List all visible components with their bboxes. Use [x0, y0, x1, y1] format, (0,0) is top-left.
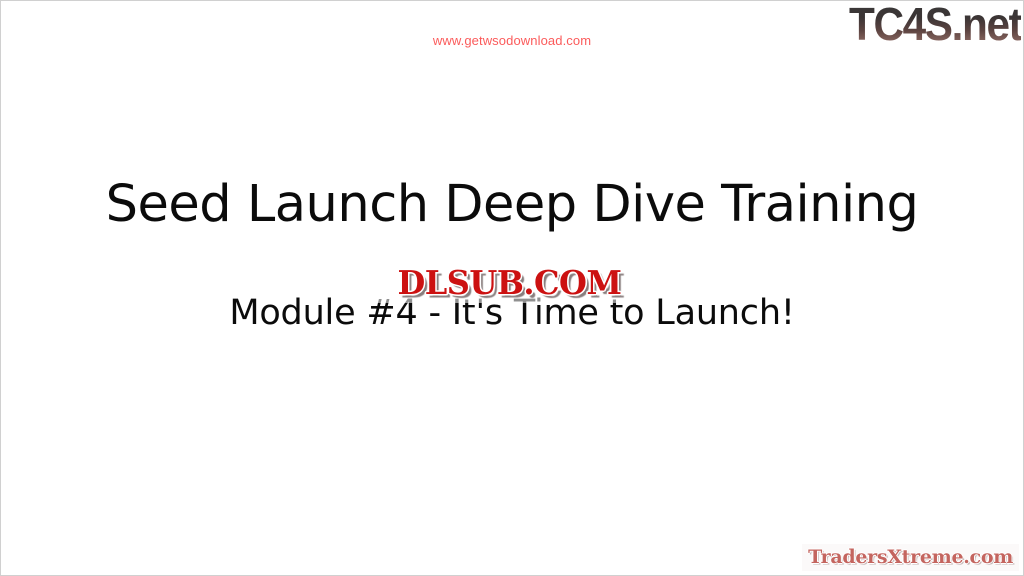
tradersxtreme-watermark: TradersXtreme.com: [802, 544, 1019, 571]
slide-title: Seed Launch Deep Dive Training: [1, 174, 1023, 236]
tradersxtreme-watermark-label: TradersXtreme.com: [808, 546, 1013, 568]
presentation-slide: www.getwsodownload.com TC4S.net Seed Lau…: [0, 0, 1024, 576]
dlsub-watermark-label: DLSUB.COM: [397, 266, 621, 300]
dlsub-com-watermark: DLSUB.COM: [370, 263, 648, 303]
